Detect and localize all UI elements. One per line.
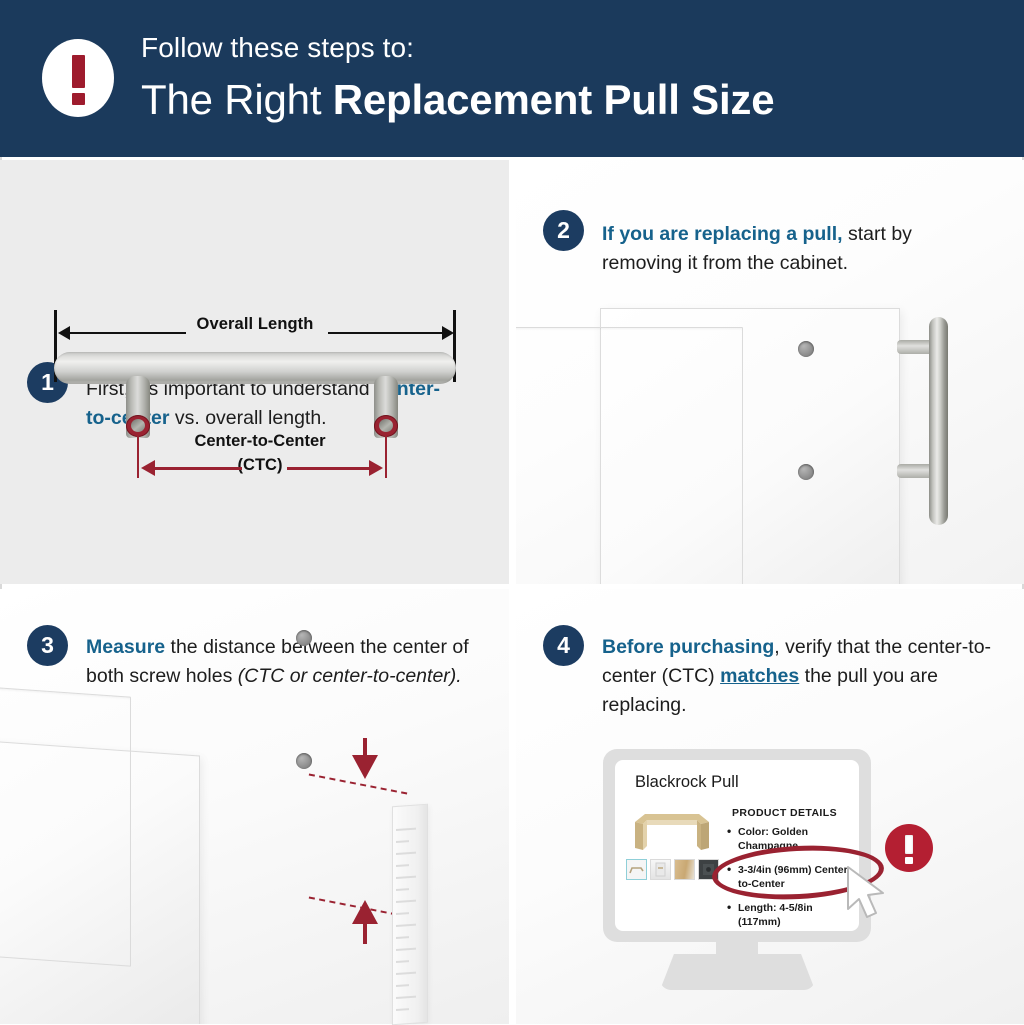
step-4-text: Before purchasing, verify that the cente… <box>602 633 992 720</box>
mouse-pointer-icon <box>845 865 893 930</box>
ctc-line-right <box>287 467 373 470</box>
screw-hole-bottom <box>798 464 814 480</box>
matches-link[interactable]: matches <box>720 665 799 687</box>
product-title: Blackrock Pull <box>635 773 739 792</box>
exclamation-dot <box>72 93 85 105</box>
measure-arrow-up <box>352 900 378 924</box>
ctc-label-line1: Center-to-Center <box>100 432 420 451</box>
monitor-base <box>660 954 815 990</box>
header-banner: Follow these steps to: The Right Replace… <box>0 0 1024 157</box>
product-detail-length: Length: 4-5/8in (117mm) <box>727 902 855 929</box>
ctc-arrow-right <box>369 460 383 476</box>
measure-arrow-down <box>352 755 378 779</box>
cabinet-door-inner-frame <box>516 327 743 584</box>
step-1-panel: 1 First, it’s important to understand ce… <box>0 160 509 584</box>
pull-post-left <box>126 376 150 438</box>
overall-length-arrow-left <box>58 326 70 340</box>
overall-length-arrow-right <box>442 326 454 340</box>
pull-dimension-diagram: Overall Length Center-to-Center (CTC) <box>40 310 470 470</box>
screw-hole-bottom <box>296 753 312 769</box>
pull-post-right <box>374 376 398 438</box>
header-eyebrow: Follow these steps to: <box>141 32 414 64</box>
step-3-highlight: Measure <box>86 636 165 658</box>
measure-arrow-up-stem <box>363 922 367 944</box>
thumbnail-2[interactable] <box>650 859 671 880</box>
thumbnail-1[interactable] <box>626 859 647 880</box>
step-3-italic: (CTC or center-to-center). <box>238 665 462 687</box>
alert-exclamation-dot <box>905 857 913 864</box>
page-title: The Right Replacement Pull Size <box>141 76 774 124</box>
step-4-badge: 4 <box>543 625 584 666</box>
thumbnail-strip[interactable] <box>626 859 719 880</box>
page-title-bold: Replacement Pull Size <box>333 76 775 123</box>
page-title-light: The Right <box>141 76 333 123</box>
thumbnail-3[interactable] <box>674 859 695 880</box>
step-2-badge: 2 <box>543 210 584 251</box>
ctc-line-left <box>152 467 242 470</box>
overall-length-line-right <box>328 332 446 334</box>
cabinet-door-graphic <box>600 308 900 584</box>
product-details-heading: PRODUCT DETAILS <box>732 807 837 819</box>
infographic-page: Follow these steps to: The Right Replace… <box>0 0 1024 1024</box>
alert-exclamation-bar <box>905 835 913 854</box>
ruler-graphic <box>392 804 428 1025</box>
step-3-panel: 3 Measure the distance between the cente… <box>0 589 509 1024</box>
step-4-highlight: Before purchasing <box>602 636 774 658</box>
cabinet-door-graphic-angled <box>0 732 200 1024</box>
step-3-badge: 3 <box>27 625 68 666</box>
screw-hole-top <box>798 341 814 357</box>
overall-length-line-left <box>62 332 186 334</box>
step-2-highlight: If you are replacing a pull, <box>602 223 843 245</box>
gold-pull-illustration <box>627 806 717 852</box>
pull-bar-vertical <box>929 317 948 525</box>
step-2-text: If you are replacing a pull, start by re… <box>602 220 962 278</box>
screw-hole-top <box>296 630 312 646</box>
step-3-text: Measure the distance between the center … <box>86 633 476 691</box>
product-image <box>627 806 717 852</box>
exclamation-bar <box>72 55 85 88</box>
exclamation-circle-icon <box>42 39 114 117</box>
ctc-arrow-left <box>141 460 155 476</box>
cabinet-door-inner-frame-angled <box>0 680 131 967</box>
